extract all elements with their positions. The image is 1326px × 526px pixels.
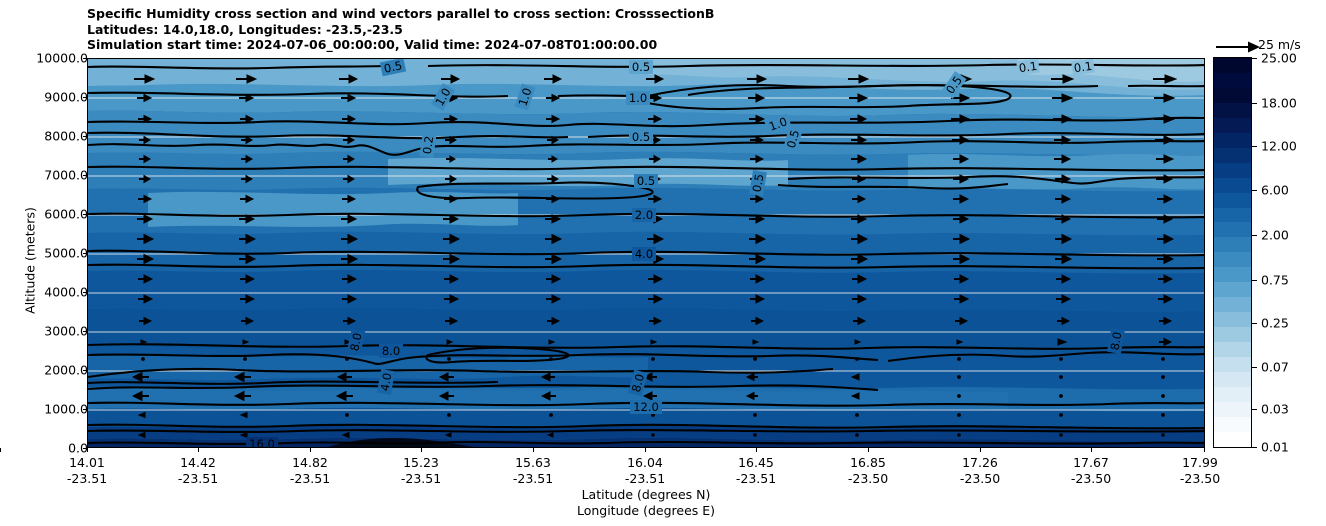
svg-text:0.1: 0.1: [1018, 59, 1038, 75]
x-tick-longitude: -23.51: [290, 471, 330, 487]
x-tick-latitude: 17.26: [960, 455, 1000, 471]
colorbar-segment: [1214, 267, 1251, 282]
x-tick-latitude: 17.67: [1071, 455, 1111, 471]
colorbar-segment: [1214, 222, 1251, 237]
y-axis-label: Altitude (meters): [23, 161, 38, 361]
svg-text:2.0: 2.0: [635, 208, 653, 222]
colorbar-tick-label: 6.00: [1261, 183, 1289, 198]
x-tick-longitude: -23.51: [513, 471, 553, 487]
x-tick-mark: [1204, 448, 1205, 452]
colorbar-segment: [1214, 357, 1251, 372]
colorbar-segment: [1214, 73, 1251, 88]
colorbar-tick-mark: [1252, 146, 1257, 147]
svg-text:0.5: 0.5: [637, 174, 655, 188]
y-tick-label: 6000.0: [44, 207, 88, 222]
x-tick-label: 17.99 -23.50: [1180, 455, 1220, 487]
x-axis-label-longitude: Longitude (degrees E): [0, 503, 1292, 518]
colorbar-segment: [1214, 432, 1251, 447]
x-tick-mark: [0, 448, 1, 452]
svg-text:12.0: 12.0: [633, 400, 659, 414]
x-tick-latitude: 16.85: [848, 455, 888, 471]
colorbar-tick-mark: [1252, 409, 1257, 410]
x-tick-mark: [980, 448, 981, 452]
colorbar-tick-label: 0.25: [1261, 316, 1289, 331]
x-tick-mark: [645, 448, 646, 452]
x-tick-latitude: 16.04: [625, 455, 665, 471]
figure-canvas: Specific Humidity cross section and wind…: [0, 0, 1326, 526]
y-tick-label: 10000.0: [36, 51, 88, 66]
x-tick-label: 16.85 -23.50: [848, 455, 888, 487]
x-tick-longitude: -23.51: [67, 471, 107, 487]
colorbar-segment: [1214, 118, 1251, 133]
colorbar-segment: [1214, 297, 1251, 312]
x-tick-label: 16.45 -23.51: [736, 455, 776, 487]
colorbar-tick-label: 0.07: [1261, 360, 1289, 375]
y-tick-label: 1000.0: [44, 402, 88, 417]
colorbar-tick-label: 25.00: [1261, 51, 1297, 66]
colorbar-tick-mark: [1252, 235, 1257, 236]
x-tick-latitude: 15.23: [401, 455, 441, 471]
title-line-3: Simulation start time: 2024-07-06_00:00:…: [87, 37, 714, 53]
x-tick-latitude: 14.82: [290, 455, 330, 471]
figure-title: Specific Humidity cross section and wind…: [87, 6, 714, 53]
x-tick-mark: [198, 448, 199, 452]
colorbar-segment: [1214, 103, 1251, 118]
title-line-2: Latitudes: 14.0,18.0, Longitudes: -23.5,…: [87, 22, 714, 38]
x-tick-label: 15.63 -23.51: [513, 455, 553, 487]
x-tick-label: 14.01 -23.51: [67, 455, 107, 487]
y-tick-label: 4000.0: [44, 285, 88, 300]
colorbar-tick-label: 12.00: [1261, 139, 1297, 154]
svg-text:8.0: 8.0: [382, 344, 400, 358]
colorbar-segment: [1214, 387, 1251, 402]
x-tick-mark: [868, 448, 869, 452]
colorbar-segment: [1214, 193, 1251, 208]
contour-field: 0.5 0.5 0.1 0.1 1.0 1.0 1.0 0.5 1.0: [88, 59, 1205, 448]
colorbar-tick-mark: [1252, 367, 1257, 368]
colorbar-tick-label: 0.01: [1261, 440, 1289, 455]
x-tick-label: 14.42 -23.51: [178, 455, 218, 487]
title-line-1: Specific Humidity cross section and wind…: [87, 6, 714, 22]
y-tick-label: 5000.0: [44, 246, 88, 261]
x-tick-mark: [421, 448, 422, 452]
y-tick-label: 7000.0: [44, 168, 88, 183]
x-tick-mark: [87, 448, 88, 452]
x-tick-mark: [1091, 448, 1092, 452]
svg-text:0.5: 0.5: [632, 130, 650, 144]
colorbar-segment: [1214, 312, 1251, 327]
colorbar-segment: [1214, 148, 1251, 163]
colorbar-tick-label: 2.00: [1261, 228, 1289, 243]
colorbar-segment: [1214, 342, 1251, 357]
x-tick-longitude: -23.51: [401, 471, 441, 487]
colorbar-segment: [1214, 237, 1251, 252]
x-tick-mark: [533, 448, 534, 452]
y-tick-label: 3000.0: [44, 324, 88, 339]
cross-section-plot[interactable]: 0.5 0.5 0.1 0.1 1.0 1.0 1.0 0.5 1.0: [87, 58, 1205, 448]
colorbar-segment: [1214, 252, 1251, 267]
x-tick-longitude: -23.50: [1180, 471, 1220, 487]
colorbar-tick-label: 0.75: [1261, 273, 1289, 288]
y-tick-label: 2000.0: [44, 363, 88, 378]
colorbar-segment: [1214, 417, 1251, 432]
colorbar-segment: [1214, 282, 1251, 297]
x-tick-label: 14.82 -23.51: [290, 455, 330, 487]
y-tick-label: 8000.0: [44, 129, 88, 144]
colorbar-tick-label: 0.03: [1261, 402, 1289, 417]
colorbar-tick-mark: [1252, 447, 1257, 448]
colorbar-tick-label: 18.00: [1261, 96, 1297, 111]
colorbar-tick-mark: [1252, 323, 1257, 324]
colorbar-segment: [1214, 372, 1251, 387]
svg-text:0.1: 0.1: [1073, 59, 1093, 75]
colorbar-tick-mark: [1252, 103, 1257, 104]
svg-text:0.5: 0.5: [632, 60, 650, 74]
colorbar-tick-mark: [1252, 58, 1257, 59]
svg-text:4.0: 4.0: [635, 247, 653, 261]
colorbar-segment: [1214, 178, 1251, 193]
x-tick-latitude: 15.63: [513, 455, 553, 471]
y-tick-label: 9000.0: [44, 90, 88, 105]
x-tick-label: 16.04 -23.51: [625, 455, 665, 487]
x-tick-latitude: 16.45: [736, 455, 776, 471]
x-tick-label: 17.26 -23.50: [960, 455, 1000, 487]
svg-text:1.0: 1.0: [629, 91, 647, 105]
colorbar-segment: [1214, 88, 1251, 103]
x-tick-latitude: 17.99: [1180, 455, 1220, 471]
colorbar-segment: [1214, 327, 1251, 342]
x-tick-longitude: -23.50: [848, 471, 888, 487]
x-tick-latitude: 14.01: [67, 455, 107, 471]
x-tick-label: 17.67 -23.50: [1071, 455, 1111, 487]
colorbar-segment: [1214, 163, 1251, 178]
colorbar-segment: [1214, 58, 1251, 73]
x-tick-latitude: 14.42: [178, 455, 218, 471]
x-tick-longitude: -23.51: [736, 471, 776, 487]
x-tick-mark: [756, 448, 757, 452]
colorbar-segment: [1214, 402, 1251, 417]
x-tick-label: 15.23 -23.51: [401, 455, 441, 487]
x-axis-label-latitude: Latitude (degrees N): [0, 487, 1292, 502]
svg-text:16.0: 16.0: [249, 437, 275, 448]
colorbar[interactable]: [1213, 57, 1252, 448]
svg-text:0.2: 0.2: [420, 135, 436, 155]
colorbar-tick-mark: [1252, 190, 1257, 191]
x-tick-longitude: -23.50: [1071, 471, 1111, 487]
x-tick-mark: [310, 448, 311, 452]
x-tick-longitude: -23.51: [178, 471, 218, 487]
colorbar-segment: [1214, 133, 1251, 148]
x-tick-longitude: -23.50: [960, 471, 1000, 487]
y-tick-label: 0.0: [68, 441, 88, 456]
colorbar-segment: [1214, 208, 1251, 223]
x-tick-longitude: -23.51: [625, 471, 665, 487]
colorbar-tick-mark: [1252, 280, 1257, 281]
